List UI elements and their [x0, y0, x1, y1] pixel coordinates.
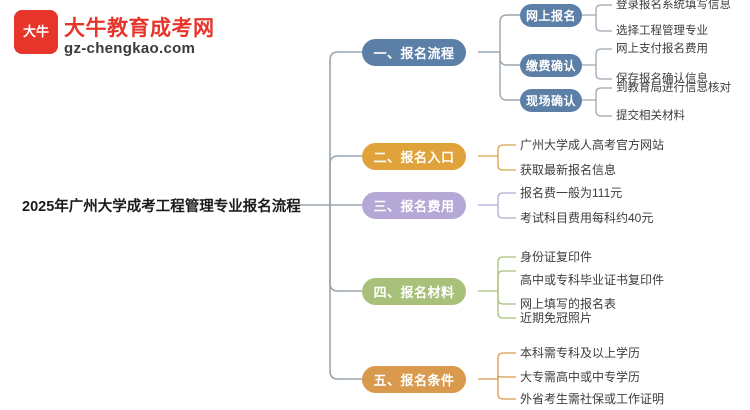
branch-1-child-1-pill[interactable]: 网上报名: [520, 4, 582, 27]
logo-mark-text: 大牛: [23, 25, 49, 39]
branch-1-child-1-detail-1: 登录报名系统填写信息: [616, 0, 731, 13]
branch-2-pill[interactable]: 二、报名入口: [362, 143, 466, 170]
branch-2-detail-2: 获取最新报名信息: [520, 162, 616, 178]
branch-1-child-3-pill[interactable]: 现场确认: [520, 89, 582, 112]
branch-1-child-3-detail-2: 提交相关材料: [616, 108, 685, 124]
branch-5-detail-3: 外省考生需社保或工作证明: [520, 391, 664, 407]
logo-subtitle: gz-chengkao.com: [64, 40, 195, 57]
branch-5-detail-2: 大专需高中或中专学历: [520, 369, 640, 385]
logo-mark-icon: 大牛: [14, 10, 58, 54]
logo-title: 大牛教育成考网: [64, 12, 215, 42]
branch-3-pill[interactable]: 三、报名费用: [362, 192, 466, 219]
branch-2-detail-1: 广州大学成人高考官方网站: [520, 137, 664, 153]
branch-3-detail-2: 考试科目费用每科约40元: [520, 210, 653, 226]
branch-5-detail-1: 本科需专科及以上学历: [520, 345, 640, 361]
branch-1-child-2-pill[interactable]: 缴费确认: [520, 54, 582, 77]
branch-1-child-1-detail-2: 选择工程管理专业: [616, 23, 708, 39]
branch-4-detail-2: 高中或专科毕业证书复印件: [520, 272, 664, 288]
branch-1-child-3-detail-1: 到教育局进行信息核对: [616, 80, 731, 96]
branch-4-detail-1: 身份证复印件: [520, 249, 592, 265]
branch-5-pill[interactable]: 五、报名条件: [362, 366, 466, 393]
branch-4-detail-4: 近期免冠照片: [520, 310, 592, 326]
branch-1-pill[interactable]: 一、报名流程: [362, 39, 466, 66]
site-logo: 大牛 大牛教育成考网 gz-chengkao.com: [14, 10, 204, 66]
root-node: 2025年广州大学成考工程管理专业报名流程: [22, 190, 300, 220]
branch-4-pill[interactable]: 四、报名材料: [362, 278, 466, 305]
branch-3-detail-1: 报名费一般为111元: [520, 185, 622, 201]
branch-1-child-2-detail-1: 网上支付报名费用: [616, 41, 708, 57]
